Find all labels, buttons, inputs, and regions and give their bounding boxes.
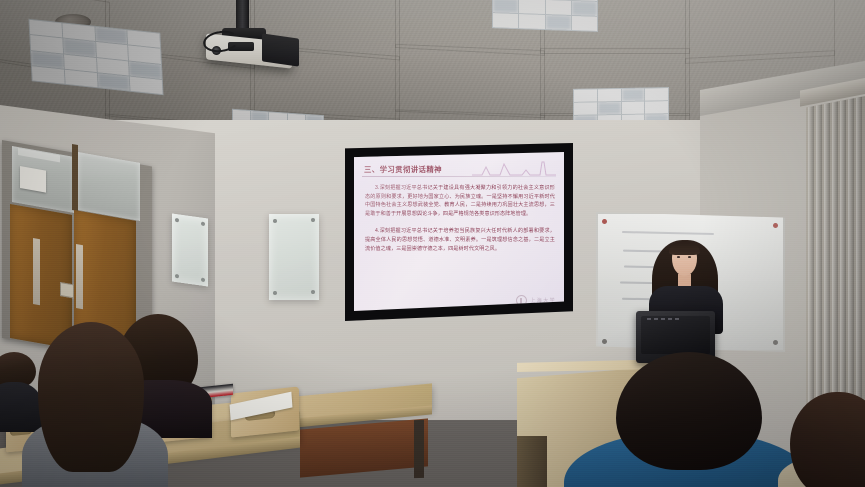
- student-hair: [790, 392, 865, 487]
- projection-screen: 三、学习贯彻讲话精神 3.深刻把握习近平总书记关于建设具有强大凝聚力和引领力的社…: [354, 152, 564, 311]
- desk-modesty-panel: [300, 418, 428, 477]
- transom-mullion: [72, 144, 78, 211]
- slide-body: 3.深刻把握习近平总书记关于建设具有强大凝聚力和引领力的社会主义意识形态的原则和…: [365, 184, 555, 262]
- desk-leg: [414, 420, 424, 478]
- vertical-blinds[interactable]: [806, 96, 865, 437]
- student-hair: [38, 322, 144, 472]
- projector-rear-panel: [262, 33, 299, 66]
- student-right-foreground: [784, 392, 865, 487]
- student-hair: [616, 352, 762, 470]
- door-vision-panel-right: [76, 244, 83, 309]
- classroom-photo: 三、学习贯彻讲话精神 3.深刻把握习近平总书记关于建设具有强大凝聚力和引领力的社…: [0, 0, 865, 487]
- slide-title: 三、学习贯彻讲话精神: [364, 164, 442, 175]
- student-blue-jacket: [592, 352, 784, 487]
- student-grey-sweater: [28, 322, 148, 487]
- door-notice-paper: [20, 166, 46, 193]
- monitor-screen: [641, 316, 710, 354]
- monitor-buttons[interactable]: [647, 318, 679, 320]
- door-transom-right: [78, 152, 140, 221]
- slide-paragraph: 3.深刻把握习近平总书记关于建设具有强大凝聚力和引领力的社会主义意识形态的原则和…: [365, 184, 555, 218]
- door-lock-plate[interactable]: [60, 282, 74, 298]
- door-vision-panel-left: [33, 238, 40, 305]
- wall-acrylic-sign-left: [269, 214, 319, 300]
- wall-acrylic-sign-left-2: [172, 213, 208, 286]
- slide-skyline-decoration: [470, 159, 558, 177]
- presenter-eye: [677, 256, 680, 258]
- slide-paragraph: 4.深刻把握习近平总书记关于培养担当民族复兴大任时代新人的部署和要求，提高全体人…: [365, 227, 555, 253]
- presenter-eye: [688, 256, 691, 258]
- podium-side-panel: [517, 436, 547, 487]
